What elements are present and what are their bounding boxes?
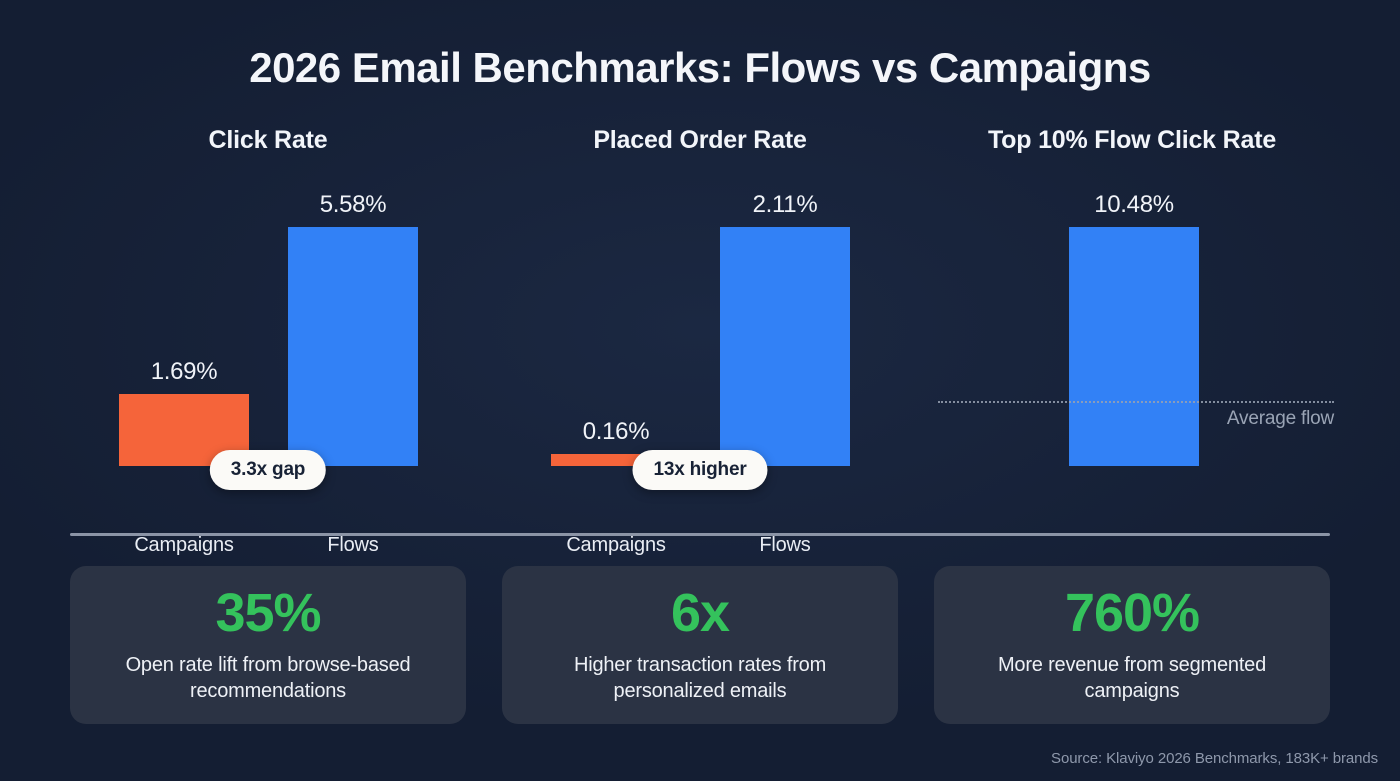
stat-card-number: 760% <box>1065 586 1199 640</box>
chart-panels: Click Rate 1.69% 5.58% Campaigns Flows 3… <box>0 126 1400 516</box>
chart-panel-top-flow-click-rate: Top 10% Flow Click Rate 10.48% Average f… <box>916 126 1348 516</box>
comparison-badge[interactable]: 3.3x gap <box>210 450 326 490</box>
average-flow-label: Average flow <box>1227 408 1334 430</box>
section-divider <box>70 533 1330 536</box>
bar-group-flows[interactable]: 5.58% <box>288 182 418 466</box>
stat-card[interactable]: 35% Open rate lift from browse-based rec… <box>70 566 466 724</box>
bar-group-flows[interactable]: 2.11% <box>720 182 850 466</box>
bar-caption-campaigns: Campaigns <box>119 534 249 557</box>
chart-panel-click-rate: Click Rate 1.69% 5.58% Campaigns Flows 3… <box>52 126 484 516</box>
plot-area: 0.16% 2.11% Campaigns Flows 13x higher <box>484 182 916 466</box>
comparison-badge[interactable]: 13x higher <box>632 450 767 490</box>
average-flow-reference-line <box>938 401 1334 403</box>
bar-flows[interactable] <box>720 227 850 466</box>
source-attribution: Source: Klaviyo 2026 Benchmarks, 183K+ b… <box>1051 750 1378 767</box>
stat-card-number: 35% <box>215 586 320 640</box>
bar-value-label: 1.69% <box>151 358 218 386</box>
stat-card-description: Open rate lift from browse-based recomme… <box>90 652 446 704</box>
page-title: 2026 Email Benchmarks: Flows vs Campaign… <box>0 44 1400 92</box>
plot-area: 1.69% 5.58% Campaigns Flows 3.3x gap <box>52 182 484 466</box>
bar-value-label: 0.16% <box>583 418 650 446</box>
stat-card-row: 35% Open rate lift from browse-based rec… <box>0 566 1400 724</box>
bar-caption-flows: Flows <box>288 534 418 557</box>
panel-title: Top 10% Flow Click Rate <box>916 126 1348 155</box>
plot-area: 10.48% Average flow <box>916 182 1348 466</box>
chart-panel-placed-order-rate: Placed Order Rate 0.16% 2.11% Campaigns … <box>484 126 916 516</box>
bar-flows[interactable] <box>1069 227 1199 466</box>
stat-card-description: Higher transaction rates from personaliz… <box>522 652 878 704</box>
infographic-canvas: 2026 Email Benchmarks: Flows vs Campaign… <box>0 0 1400 781</box>
bar-flows[interactable] <box>288 227 418 466</box>
bar-value-label: 2.11% <box>753 191 818 219</box>
bar-value-label: 10.48% <box>1094 191 1174 219</box>
stat-card-description: More revenue from segmented campaigns <box>954 652 1310 704</box>
stat-card[interactable]: 760% More revenue from segmented campaig… <box>934 566 1330 724</box>
stat-card-number: 6x <box>671 586 729 640</box>
bar-group-top-flow[interactable]: 10.48% <box>1069 182 1199 466</box>
bar-caption-campaigns: Campaigns <box>551 534 681 557</box>
bar-caption-flows: Flows <box>720 534 850 557</box>
bar-value-label: 5.58% <box>320 191 387 219</box>
bar-group-campaigns[interactable]: 0.16% <box>551 182 681 466</box>
panel-title: Placed Order Rate <box>484 126 916 155</box>
panel-title: Click Rate <box>52 126 484 155</box>
bar-group-campaigns[interactable]: 1.69% <box>119 182 249 466</box>
stat-card[interactable]: 6x Higher transaction rates from persona… <box>502 566 898 724</box>
